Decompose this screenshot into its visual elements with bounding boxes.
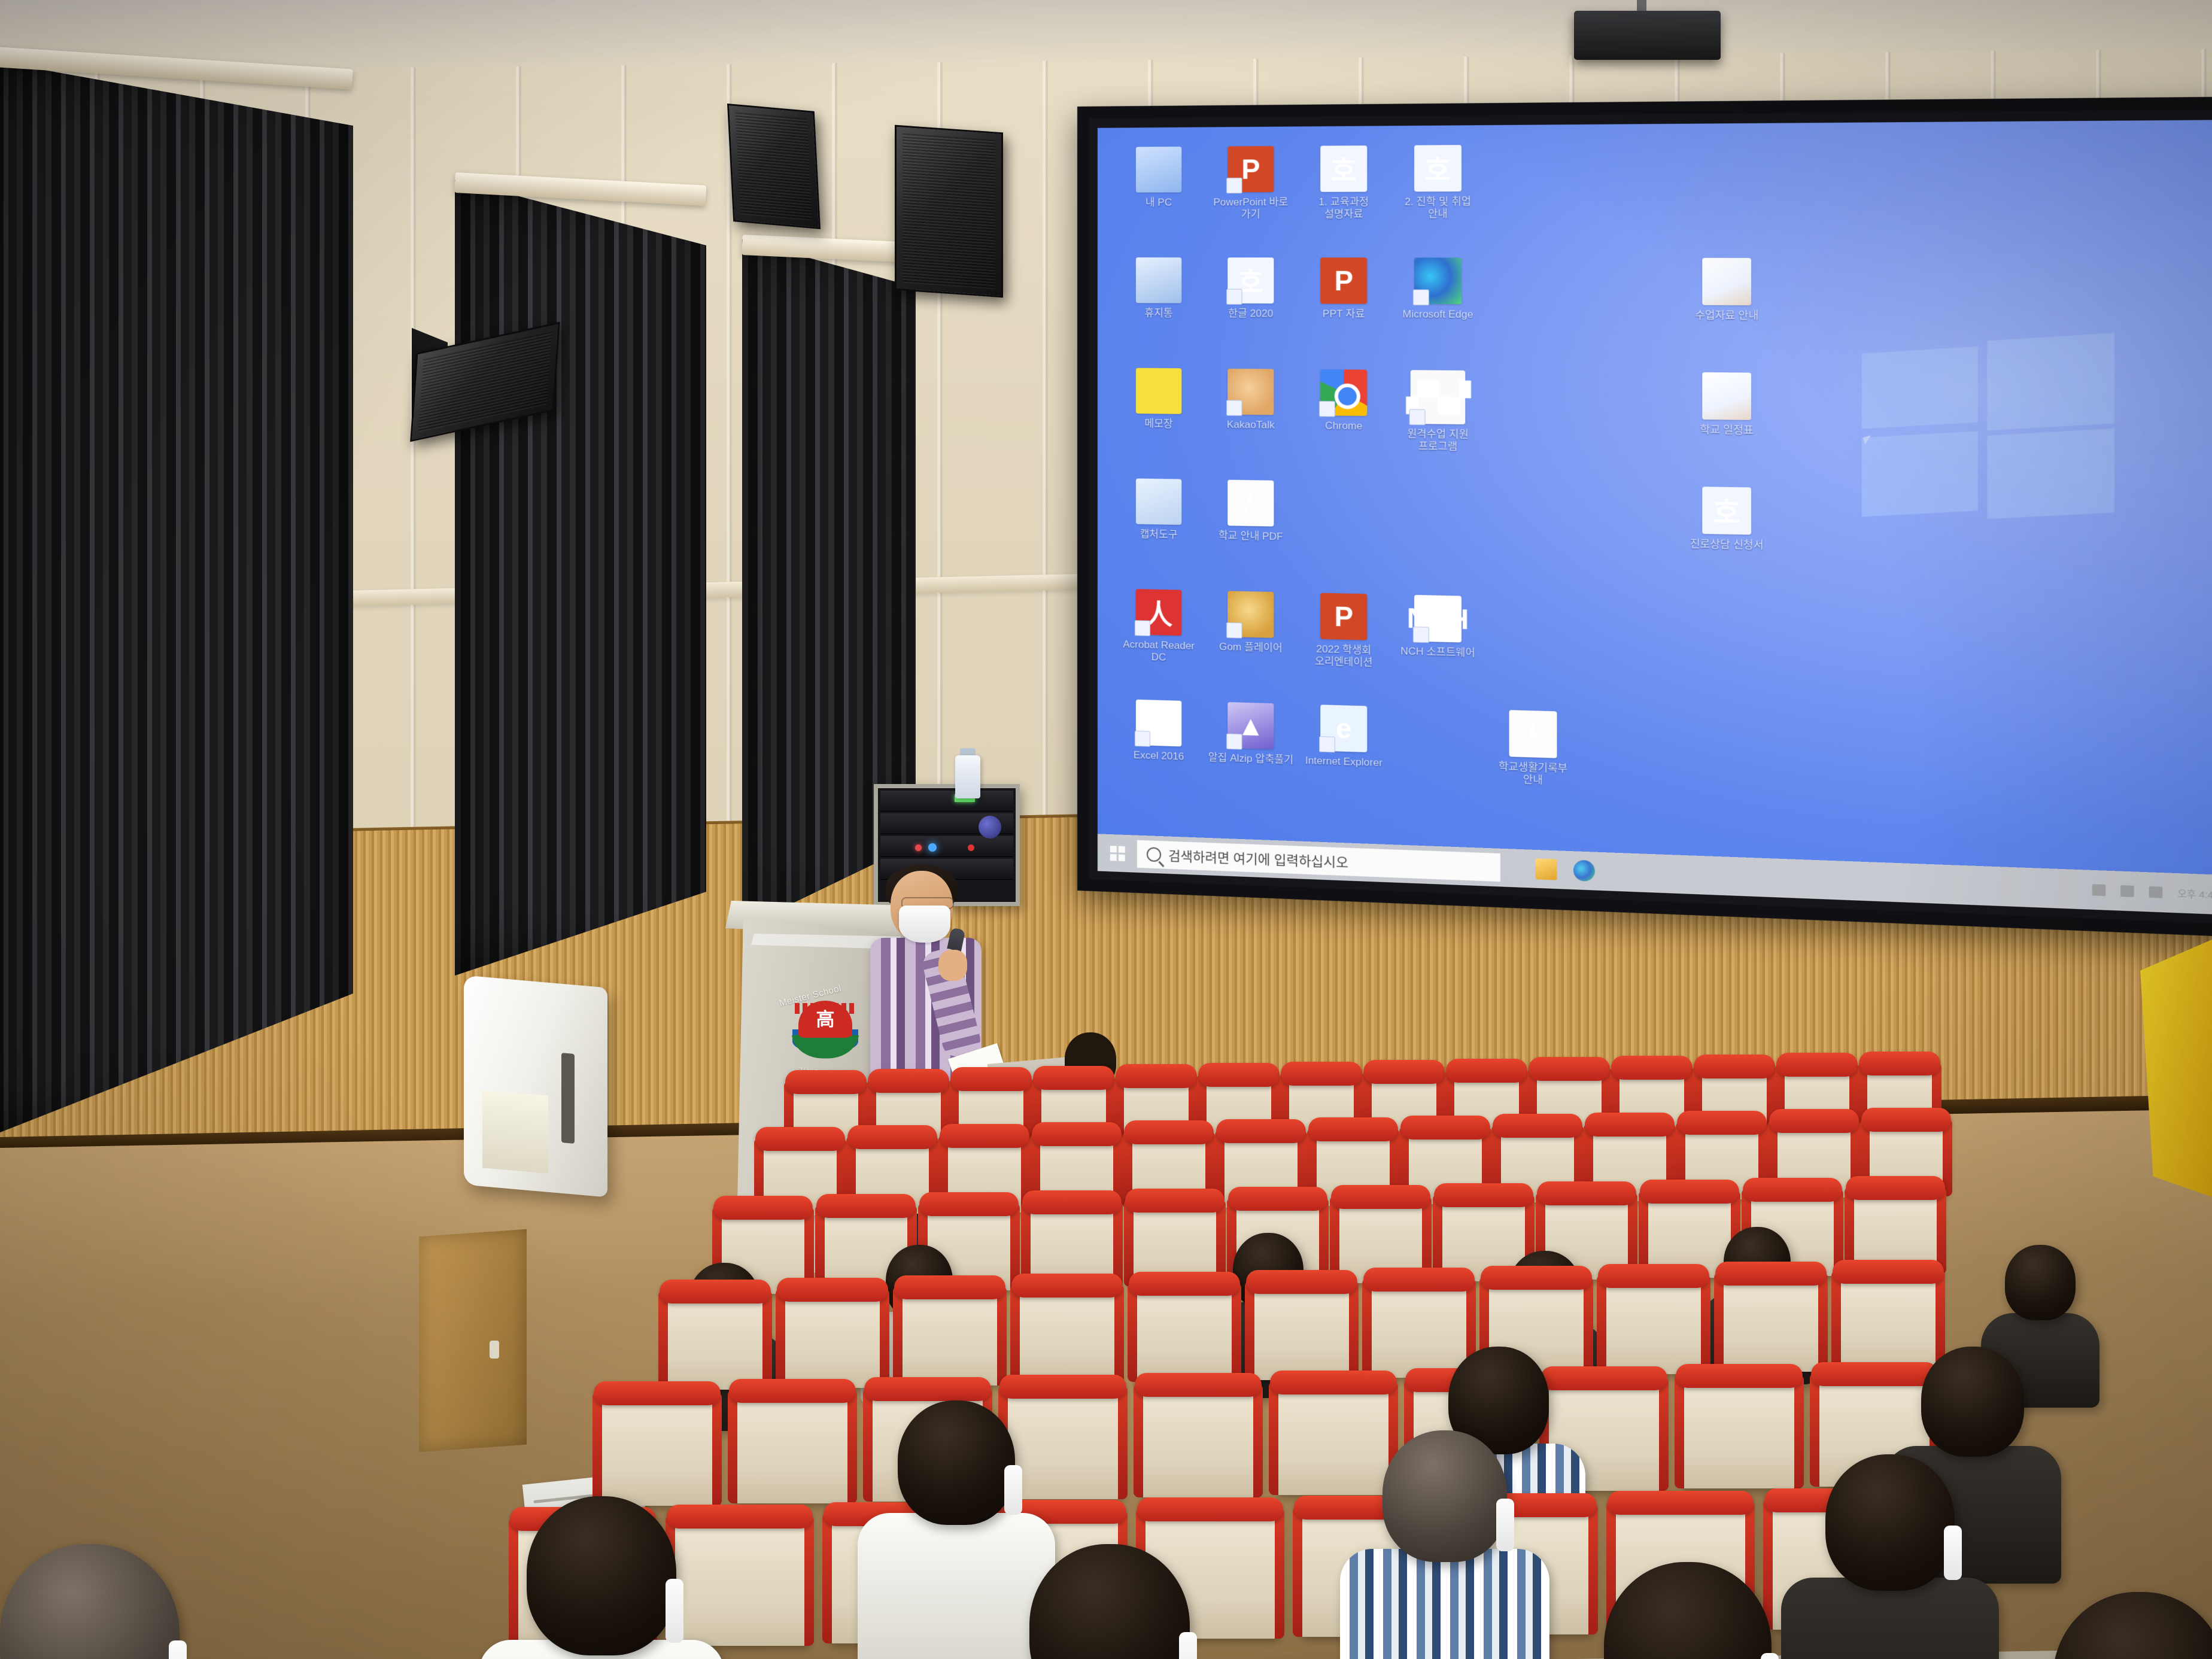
seat-headrest — [1585, 1113, 1675, 1137]
desktop-icon-label: Acrobat Reader DC — [1116, 639, 1202, 665]
window-curtain-left — [0, 60, 353, 1137]
presenter-hand — [938, 950, 967, 981]
seat-headrest — [1308, 1117, 1398, 1141]
seat-side — [1232, 1283, 1241, 1382]
desktop-icon-label: 진로상담 신청서 — [1681, 538, 1773, 552]
desktop-icon-label: Microsoft Edge — [1394, 308, 1482, 321]
seat-headrest — [1032, 1122, 1122, 1146]
desktop-icon[interactable]: 내 PC — [1114, 142, 1204, 248]
seat-headrest — [1246, 1270, 1357, 1294]
desktop-icon-label: 학교 안내 PDF — [1208, 530, 1294, 543]
audience-member-head — [2005, 1245, 2076, 1320]
seat-headrest — [1715, 1262, 1827, 1286]
desktop-icon-label: NCH 소프트웨어 — [1394, 645, 1482, 660]
desktop-icon[interactable]: 메모장 — [1114, 363, 1204, 469]
seat-headrest — [894, 1275, 1005, 1299]
audience-member-head — [1825, 1454, 1955, 1591]
desktop-icon-label: Internet Explorer — [1300, 755, 1387, 770]
auditorium-seat[interactable] — [671, 1512, 808, 1646]
desktop-icon[interactable]: PPPT 자료 — [1298, 253, 1389, 360]
auditorium-photo: 내 PCPPowerPoint 바로 가기호1. 교육과정 설명자료호2. 진학… — [0, 0, 2212, 1659]
desktop-icon-label: KakaoTalk — [1208, 418, 1294, 432]
seat-headrest — [1270, 1371, 1397, 1394]
face-mask — [899, 906, 950, 943]
seat-headrest — [1769, 1109, 1859, 1133]
seat-side — [1659, 1377, 1669, 1491]
desktop-icon[interactable]: ▞▚▞원격수업 지원 프로그램 — [1392, 365, 1484, 474]
desktop-icon-label: 휴지통 — [1116, 307, 1202, 320]
qr-code-icon: ▞▚▞ — [1411, 370, 1466, 424]
seat-headrest — [1198, 1063, 1280, 1087]
seat-headrest — [1529, 1057, 1610, 1081]
wall-speaker-center — [895, 125, 1003, 298]
volume-icon[interactable] — [2120, 885, 2134, 897]
seat-headrest — [1033, 1066, 1114, 1090]
face-mask — [169, 1640, 187, 1659]
seat-side — [997, 1286, 1007, 1385]
face-mask — [1944, 1526, 1962, 1580]
desktop-icon[interactable]: 수업자료 안내 — [1679, 253, 1775, 363]
seat-side — [776, 1289, 785, 1388]
seat-side — [1010, 1284, 1020, 1384]
hangul-hwp-icon: 호 — [1702, 487, 1751, 534]
seat-headrest — [1363, 1060, 1445, 1084]
desktop-icon-label: Excel 2016 — [1116, 749, 1202, 764]
windows-start-icon — [1110, 846, 1125, 861]
seat-headrest — [999, 1375, 1126, 1399]
audience-member-head — [0, 1544, 180, 1659]
desktop-icon-label: PowerPoint 바로 가기 — [1208, 196, 1294, 221]
pdf-file-icon: 人 — [1509, 710, 1557, 758]
seat-headrest — [1537, 1181, 1636, 1205]
auditorium-seat[interactable] — [1134, 1279, 1235, 1382]
seat-headrest — [1833, 1260, 1944, 1284]
seat-headrest — [1124, 1120, 1214, 1144]
document-thumbnail-icon — [1702, 372, 1751, 420]
audience-member-shoulders — [1340, 1549, 1549, 1659]
desktop-icon[interactable]: 人Acrobat Reader DC — [1114, 584, 1204, 691]
seat-back — [1275, 1378, 1392, 1495]
auditorium-seat[interactable] — [1603, 1271, 1704, 1374]
taskbar-pinned-apps[interactable] — [1536, 858, 1595, 882]
seat-side — [880, 1289, 889, 1388]
hangul-hwp-icon: 호 — [1414, 145, 1461, 192]
auditorium-seat[interactable] — [1681, 1371, 1798, 1488]
desktop-icon[interactable]: 호2. 진학 및 취업 안내 — [1392, 140, 1484, 248]
face-mask — [1179, 1632, 1197, 1659]
auditorium-seat[interactable] — [1251, 1277, 1353, 1380]
emblem-character: 高 — [789, 1004, 862, 1031]
notepad-icon — [1136, 368, 1181, 414]
audience-member-head — [527, 1496, 676, 1655]
seat-side — [1118, 1385, 1128, 1499]
desktop-icon[interactable]: 人학교 안내 PDF — [1206, 475, 1296, 583]
seat-headrest — [1743, 1178, 1842, 1202]
seat-side — [863, 1388, 873, 1502]
seat-headrest — [1216, 1119, 1306, 1143]
hangul-hwp-icon: 호 — [1227, 257, 1274, 303]
desktop-icon-label: 알집 Alzip 압축풀기 — [1208, 752, 1294, 767]
start-button[interactable] — [1098, 845, 1137, 862]
projection-screen-frame: 내 PCPPowerPoint 바로 가기호1. 교육과정 설명자료호2. 진학… — [1077, 96, 2212, 938]
snipping-tool-icon — [1136, 478, 1181, 525]
seat-side — [1134, 1384, 1143, 1497]
seat-headrest — [1011, 1274, 1123, 1298]
desktop-icon[interactable]: ▲알집 Alzip 압축풀기 — [1206, 697, 1296, 806]
seat-headrest — [1640, 1180, 1739, 1204]
seat-headrest — [1676, 1364, 1803, 1388]
alzip-icon: ▲ — [1227, 702, 1274, 749]
desktop-icon-label: 2. 진학 및 취업 안내 — [1394, 196, 1482, 220]
auditorium-seat[interactable] — [1720, 1269, 1822, 1372]
seat-headrest — [864, 1377, 991, 1401]
seat-side — [1763, 1499, 1773, 1630]
desktop-icon[interactable]: XExcel 2016 — [1114, 694, 1204, 803]
seat-side — [804, 1515, 814, 1646]
seat-back — [598, 1388, 716, 1506]
seat-headrest — [667, 1505, 813, 1529]
hand-sanitizer — [955, 755, 980, 798]
audience-member-head — [2053, 1592, 2212, 1659]
auditorium-seat[interactable] — [734, 1386, 851, 1503]
seat-headrest — [1611, 1056, 1693, 1080]
seat-headrest — [1859, 1052, 1940, 1075]
desktop-icon[interactable]: 호1. 교육과정 설명자료 — [1298, 141, 1389, 248]
seat-headrest — [919, 1192, 1019, 1216]
gom-player-icon — [1227, 591, 1274, 638]
desktop-icon[interactable]: 캡처도구 — [1114, 473, 1204, 581]
file-explorer-icon[interactable] — [1536, 858, 1557, 880]
av-rack-unit — [880, 836, 1013, 857]
desktop-icon-label: 원격수업 지원 프로그램 — [1394, 428, 1482, 454]
language-icon[interactable] — [2149, 886, 2163, 898]
desktop-icon[interactable]: 호한글 2020 — [1206, 253, 1296, 359]
auditorium-seat[interactable] — [1275, 1378, 1392, 1495]
face-mask — [666, 1579, 683, 1642]
desktop-icon-label: Chrome — [1300, 420, 1387, 433]
seat-side — [1114, 1284, 1124, 1384]
seat-side — [893, 1286, 903, 1385]
desktop-icon[interactable]: PPowerPoint 바로 가기 — [1206, 141, 1296, 248]
seat-side — [1269, 1381, 1278, 1495]
desktop-icon-label: 메모장 — [1116, 418, 1202, 431]
seat-side — [1818, 1272, 1828, 1372]
seat-side — [1245, 1281, 1254, 1380]
seat-headrest — [755, 1127, 845, 1151]
desktop-icon[interactable]: eInternet Explorer — [1298, 699, 1389, 809]
seat-headrest — [940, 1124, 1029, 1148]
seat-back — [671, 1512, 808, 1646]
ceiling-projector — [1574, 11, 1721, 60]
powerpoint-file-icon: P — [1320, 257, 1367, 303]
audience-member-shoulders — [858, 1513, 1055, 1659]
desktop-icon[interactable]: 호진로상담 신청서 — [1679, 481, 1775, 592]
window-curtain-middle — [455, 180, 706, 976]
seat-headrest — [1776, 1053, 1858, 1077]
excel-icon: X — [1136, 700, 1181, 747]
search-placeholder: 검색하려면 여기에 입력하십시오 — [1168, 846, 1348, 872]
search-icon — [1147, 847, 1161, 862]
seat-headrest — [785, 1070, 867, 1094]
wall-speaker-left — [727, 104, 821, 229]
seat-side — [1362, 1278, 1372, 1378]
desktop-icon-label: 한글 2020 — [1208, 308, 1294, 320]
auditorium-seat[interactable] — [899, 1283, 1001, 1385]
seat-side — [1349, 1281, 1359, 1380]
desktop-icon[interactable]: KakaoTalk — [1206, 364, 1296, 471]
seat-headrest — [1598, 1264, 1709, 1288]
desktop-icon[interactable]: P2022 학생회 오리엔테이션 — [1298, 588, 1389, 697]
auditorium-seat[interactable] — [598, 1388, 716, 1506]
auditorium-seating — [0, 1065, 2212, 1659]
seat-headrest — [868, 1069, 949, 1093]
seat-side — [1584, 1277, 1593, 1376]
seat-side — [509, 1518, 518, 1648]
seat-headrest — [1434, 1183, 1533, 1207]
seat-side — [822, 1513, 832, 1643]
desktop-icon-label: 수업자료 안내 — [1681, 309, 1773, 323]
seat-headrest — [594, 1381, 721, 1405]
auditorium-seat[interactable] — [782, 1285, 883, 1388]
seat-side — [1128, 1283, 1137, 1382]
desktop-icon-label: 학교생활기록부 안내 — [1488, 760, 1578, 788]
seat-headrest — [1677, 1111, 1767, 1135]
seat-side — [1701, 1275, 1710, 1374]
desktop-icon-label: Gom 플레이어 — [1208, 640, 1294, 655]
seat-side — [1253, 1384, 1263, 1497]
seat-side — [712, 1392, 722, 1506]
auditorium-seat[interactable] — [664, 1287, 766, 1390]
desktop-icon[interactable]: Microsoft Edge — [1392, 253, 1484, 361]
face-mask — [1761, 1653, 1779, 1659]
av-rack-unit — [880, 791, 1013, 812]
taskbar-clock[interactable]: 오후 4:45 — [2177, 886, 2212, 901]
seat-side — [1124, 1199, 1134, 1287]
seat-headrest — [1846, 1176, 1945, 1200]
seat-headrest — [1116, 1064, 1197, 1088]
powerpoint-icon: P — [1227, 146, 1274, 192]
seat-headrest — [1129, 1272, 1240, 1296]
recycle-bin-icon — [1136, 257, 1181, 303]
seat-headrest — [1481, 1266, 1592, 1290]
seat-headrest — [1125, 1189, 1224, 1213]
seat-headrest — [1540, 1366, 1667, 1390]
seat-side — [1810, 1373, 1819, 1487]
seat-headrest — [777, 1278, 888, 1302]
acrobat-reader-icon: 人 — [1136, 589, 1181, 636]
seat-side — [1675, 1375, 1684, 1488]
face-mask — [1004, 1465, 1022, 1515]
seat-side — [1794, 1375, 1804, 1488]
seat-headrest — [1135, 1373, 1262, 1397]
audience-member-head — [1382, 1430, 1507, 1562]
seat-side — [1597, 1275, 1606, 1374]
desktop-icon[interactable]: Chrome — [1298, 364, 1389, 473]
desktop-icon-label: PPT 자료 — [1300, 308, 1387, 320]
seat-side — [847, 1390, 857, 1503]
seat-headrest — [1228, 1187, 1327, 1211]
auditorium-seat[interactable] — [1837, 1267, 1939, 1370]
auditorium-seat[interactable] — [1368, 1275, 1470, 1378]
power-led-blue — [928, 843, 937, 852]
desktop-icon-grid[interactable]: 내 PCPPowerPoint 바로 가기호1. 교육과정 설명자료호2. 진학… — [1114, 137, 1974, 829]
system-tray[interactable]: 오후 4:45 — [2092, 883, 2212, 902]
seat-headrest — [1861, 1108, 1951, 1132]
seat-side — [658, 1290, 668, 1390]
desktop-icon-label: 학교 일정표 — [1681, 424, 1773, 437]
seat-headrest — [816, 1194, 916, 1218]
powerpoint-file-icon: P — [1320, 593, 1367, 640]
seat-headrest — [1022, 1190, 1122, 1214]
edge-icon — [1414, 257, 1461, 304]
kakaotalk-icon — [1227, 369, 1274, 415]
seat-headrest — [1608, 1491, 1754, 1515]
seat-headrest — [1137, 1497, 1283, 1521]
speaker-grill — [736, 112, 813, 221]
seat-headrest — [713, 1196, 813, 1220]
status-led-red — [915, 844, 922, 851]
document-thumbnail-icon — [1702, 258, 1751, 305]
internet-explorer-icon: e — [1320, 704, 1367, 752]
desktop-icon-label: 1. 교육과정 설명자료 — [1300, 196, 1387, 221]
seat-side — [1714, 1272, 1724, 1372]
seat-headrest — [1331, 1185, 1430, 1209]
my-computer-icon — [1136, 147, 1181, 193]
seat-side — [728, 1390, 737, 1503]
seat-headrest — [1493, 1114, 1582, 1138]
seat-headrest — [729, 1379, 856, 1403]
face-mask — [1496, 1499, 1514, 1551]
taskbar-search-input[interactable]: 검색하려면 여기에 입력하십시오 — [1137, 840, 1500, 882]
auditorium-seat[interactable] — [1140, 1380, 1257, 1497]
desktop-icon[interactable]: 人학교생활기록부 안내 — [1487, 704, 1580, 816]
seat-side — [1275, 1508, 1284, 1639]
seat-side — [1831, 1271, 1841, 1370]
network-icon[interactable] — [2092, 884, 2106, 896]
audience-member-head — [1921, 1347, 2024, 1457]
projected-windows-desktop[interactable]: 내 PCPPowerPoint 바로 가기호1. 교육과정 설명자료호2. 진학… — [1098, 120, 2212, 915]
hangul-hwp-icon: 호 — [1320, 145, 1367, 192]
desktop-icon-label: 캡처도구 — [1116, 528, 1202, 542]
seat-side — [762, 1290, 772, 1390]
desktop-icon-label: 2022 학생회 오리엔테이션 — [1300, 643, 1387, 669]
seat-headrest — [1694, 1055, 1775, 1078]
audience-member-head — [898, 1400, 1015, 1525]
desktop-icon[interactable]: Gom 플레이어 — [1206, 586, 1296, 695]
seat-headrest — [660, 1280, 771, 1303]
seat-headrest — [1363, 1268, 1475, 1292]
seat-headrest — [847, 1125, 937, 1149]
seat-headrest — [1400, 1116, 1490, 1140]
chrome-icon — [1320, 369, 1367, 416]
microsoft-edge-icon[interactable] — [1573, 860, 1595, 882]
school-emblem-icon: 高 — [789, 998, 862, 1071]
seat-side — [592, 1392, 602, 1506]
desktop-icon[interactable]: NCHNCH 소프트웨어 — [1392, 590, 1484, 700]
status-led-red — [968, 844, 974, 851]
seat-headrest — [1811, 1362, 1938, 1386]
pdf-file-icon: 人 — [1227, 480, 1274, 527]
auditorium-seat[interactable] — [1016, 1281, 1118, 1384]
speaker-grill — [903, 133, 995, 290]
seat-back — [1681, 1371, 1798, 1488]
desktop-icon[interactable]: 휴지통 — [1114, 253, 1204, 358]
volume-knob[interactable] — [979, 816, 1001, 838]
seat-headrest — [1281, 1062, 1362, 1086]
seat-headrest — [950, 1067, 1032, 1091]
seat-headrest — [1446, 1059, 1527, 1083]
seat-side — [1588, 1504, 1598, 1634]
seat-back — [734, 1386, 851, 1503]
desktop-icon[interactable]: 학교 일정표 — [1679, 367, 1775, 478]
nch-software-icon: NCH — [1414, 595, 1461, 642]
desktop-icon-label: 내 PC — [1116, 196, 1202, 209]
seat-side — [1293, 1506, 1302, 1637]
seat-back — [1140, 1380, 1257, 1497]
